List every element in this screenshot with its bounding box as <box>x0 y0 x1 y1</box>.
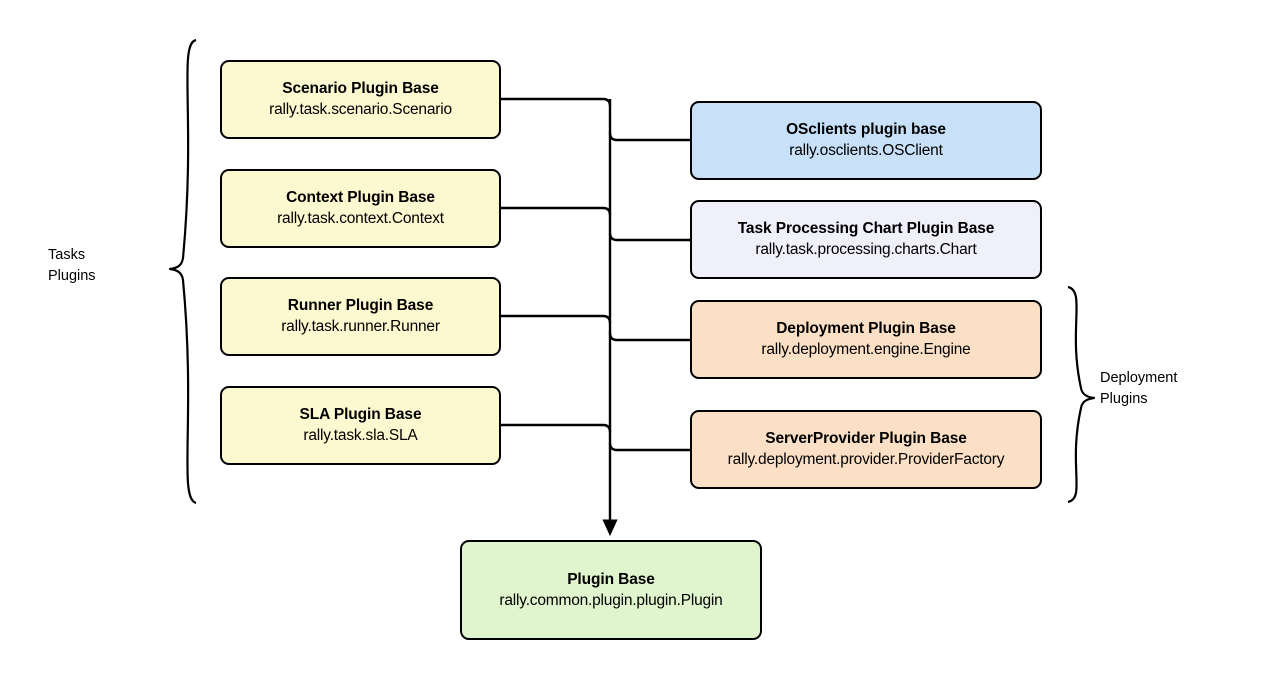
node-title: Deployment Plugin Base <box>776 319 956 339</box>
connector-bus-to-chart <box>610 233 690 240</box>
node-runner-plugin-base[interactable]: Runner Plugin Base rally.task.runner.Run… <box>220 277 501 356</box>
node-path: rally.task.runner.Runner <box>281 317 440 337</box>
node-title: Runner Plugin Base <box>288 296 433 316</box>
connector-runner-to-bus <box>501 316 610 323</box>
node-path: rally.task.processing.charts.Chart <box>755 240 976 260</box>
tasks-plugins-brace <box>170 40 196 503</box>
node-plugin-base[interactable]: Plugin Base rally.common.plugin.plugin.P… <box>460 540 762 640</box>
node-task-processing-chart-plugin-base[interactable]: Task Processing Chart Plugin Base rally.… <box>690 200 1042 279</box>
connector-sla-to-bus <box>501 425 610 432</box>
node-title: Scenario Plugin Base <box>282 79 439 99</box>
node-sla-plugin-base[interactable]: SLA Plugin Base rally.task.sla.SLA <box>220 386 501 465</box>
node-title: Context Plugin Base <box>286 188 435 208</box>
node-deployment-plugin-base[interactable]: Deployment Plugin Base rally.deployment.… <box>690 300 1042 379</box>
node-context-plugin-base[interactable]: Context Plugin Base rally.task.context.C… <box>220 169 501 248</box>
node-title: OSclients plugin base <box>786 120 946 140</box>
node-title: Plugin Base <box>567 570 655 590</box>
node-title: Task Processing Chart Plugin Base <box>738 219 995 239</box>
node-path: rally.task.sla.SLA <box>303 426 417 446</box>
diagram-canvas: Scenario Plugin Base rally.task.scenario… <box>0 0 1281 680</box>
connector-context-to-bus <box>501 208 610 215</box>
node-title: ServerProvider Plugin Base <box>765 429 967 449</box>
node-path: rally.task.scenario.Scenario <box>269 100 452 120</box>
node-path: rally.common.plugin.plugin.Plugin <box>499 591 722 611</box>
connector-bus-to-provider <box>610 443 690 450</box>
node-serverprovider-plugin-base[interactable]: ServerProvider Plugin Base rally.deploym… <box>690 410 1042 489</box>
connector-bus-to-osclients <box>610 133 690 140</box>
node-scenario-plugin-base[interactable]: Scenario Plugin Base rally.task.scenario… <box>220 60 501 139</box>
group-label-deployment-plugins: Deployment Plugins <box>1100 368 1177 409</box>
connector-scenario-to-bus <box>501 99 610 106</box>
node-path: rally.deployment.engine.Engine <box>761 340 970 360</box>
node-path: rally.deployment.provider.ProviderFactor… <box>728 450 1005 470</box>
node-osclients-plugin-base[interactable]: OSclients plugin base rally.osclients.OS… <box>690 101 1042 180</box>
group-label-tasks-plugins: Tasks Plugins <box>48 245 96 286</box>
node-path: rally.task.context.Context <box>277 209 444 229</box>
connector-bus-to-deployment <box>610 333 690 340</box>
node-title: SLA Plugin Base <box>300 405 422 425</box>
deployment-plugins-brace <box>1068 287 1094 502</box>
node-path: rally.osclients.OSClient <box>789 141 942 161</box>
